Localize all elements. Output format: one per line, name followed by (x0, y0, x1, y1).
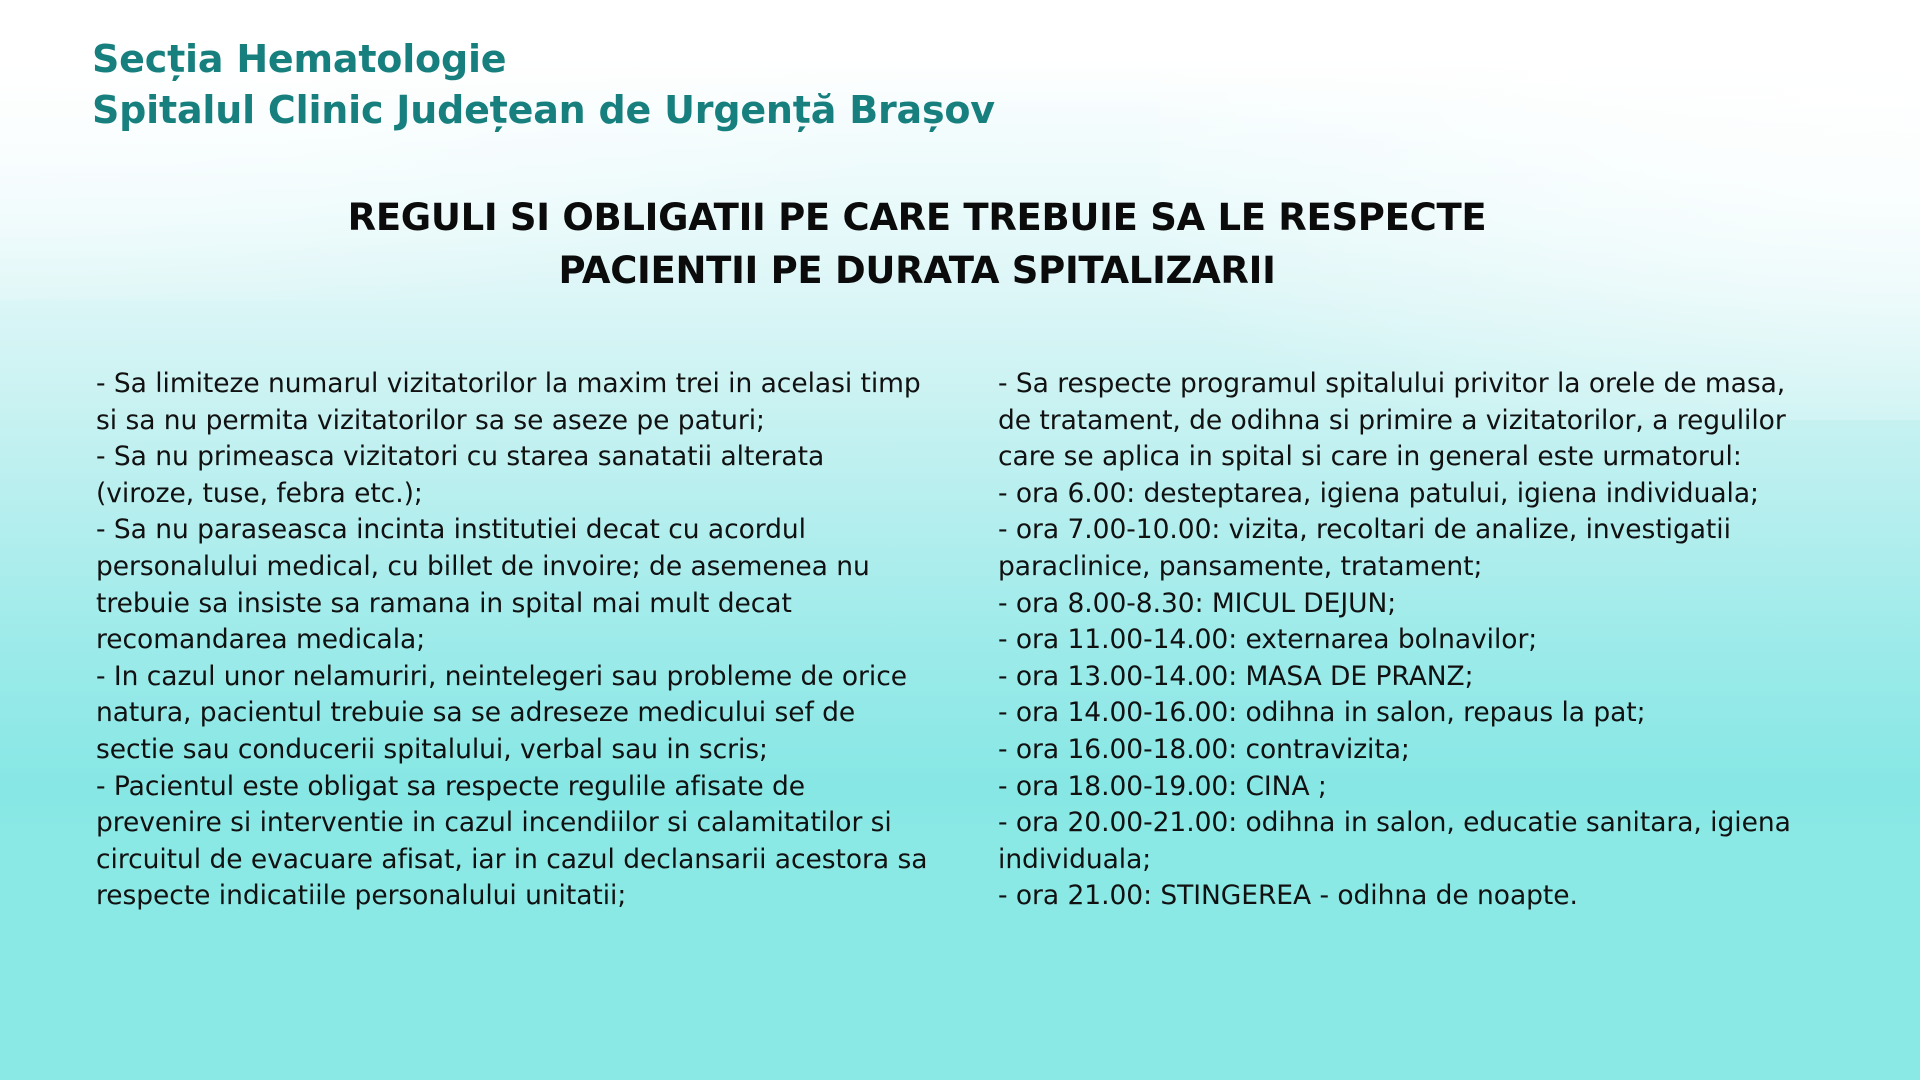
rules-line: trebuie sa insiste sa ramana in spital m… (96, 586, 936, 623)
rules-line: si sa nu permita vizitatorilor sa se ase… (96, 403, 936, 440)
rules-column-left: - Sa limiteze numarul vizitatorilor la m… (96, 366, 936, 915)
schedule-line: - ora 6.00: desteptarea, igiena patului,… (998, 476, 1828, 513)
schedule-line: - ora 7.00-10.00: vizita, recoltari de a… (998, 512, 1828, 549)
schedule-column-right: - Sa respecte programul spitalului privi… (998, 366, 1828, 915)
rules-line: circuitul de evacuare afisat, iar in caz… (96, 842, 936, 879)
rules-line: - Sa limiteze numarul vizitatorilor la m… (96, 366, 936, 403)
page-title-line-1: REGULI SI OBLIGATII PE CARE TREBUIE SA L… (0, 192, 1834, 245)
schedule-line: de tratament, de odihna si primire a viz… (998, 403, 1828, 440)
rules-line: - In cazul unor nelamuriri, neintelegeri… (96, 659, 936, 696)
organization-heading: Secția Hematologie Spitalul Clinic Județ… (92, 34, 995, 135)
rules-line: respecte indicatiile personalului unitat… (96, 878, 936, 915)
rules-line: - Sa nu primeasca vizitatori cu starea s… (96, 439, 936, 476)
rules-line: - Sa nu paraseasca incinta institutiei d… (96, 512, 936, 549)
rules-line: prevenire si interventie in cazul incend… (96, 805, 936, 842)
slide-canvas: Secția Hematologie Spitalul Clinic Județ… (0, 0, 1920, 1080)
rules-line: (viroze, tuse, febra etc.); (96, 476, 936, 513)
schedule-line: - Sa respecte programul spitalului privi… (998, 366, 1828, 403)
rules-line: natura, pacientul trebuie sa se adreseze… (96, 695, 936, 732)
schedule-line: care se aplica in spital si care in gene… (998, 439, 1828, 476)
rules-line: recomandarea medicala; (96, 622, 936, 659)
schedule-line: - ora 20.00-21.00: odihna in salon, educ… (998, 805, 1828, 842)
schedule-line: - ora 8.00-8.30: MICUL DEJUN; (998, 586, 1828, 623)
rules-line: personalului medical, cu billet de invoi… (96, 549, 936, 586)
schedule-line: - ora 18.00-19.00: CINA ; (998, 769, 1828, 806)
schedule-line: individuala; (998, 842, 1828, 879)
schedule-line: - ora 13.00-14.00: MASA DE PRANZ; (998, 659, 1828, 696)
org-heading-line-2: Spitalul Clinic Județean de Urgență Braș… (92, 85, 995, 136)
body-columns: - Sa limiteze numarul vizitatorilor la m… (0, 366, 1920, 915)
page-title: REGULI SI OBLIGATII PE CARE TREBUIE SA L… (0, 192, 1920, 297)
schedule-line: paraclinice, pansamente, tratament; (998, 549, 1828, 586)
org-heading-line-1: Secția Hematologie (92, 34, 995, 85)
schedule-line: - ora 21.00: STINGEREA - odihna de noapt… (998, 878, 1828, 915)
page-title-line-2: PACIENTII PE DURATA SPITALIZARII (0, 245, 1834, 298)
rules-line: sectie sau conducerii spitalului, verbal… (96, 732, 936, 769)
schedule-line: - ora 16.00-18.00: contravizita; (998, 732, 1828, 769)
schedule-line: - ora 11.00-14.00: externarea bolnavilor… (998, 622, 1828, 659)
schedule-line: - ora 14.00-16.00: odihna in salon, repa… (998, 695, 1828, 732)
rules-line: - Pacientul este obligat sa respecte reg… (96, 769, 936, 806)
